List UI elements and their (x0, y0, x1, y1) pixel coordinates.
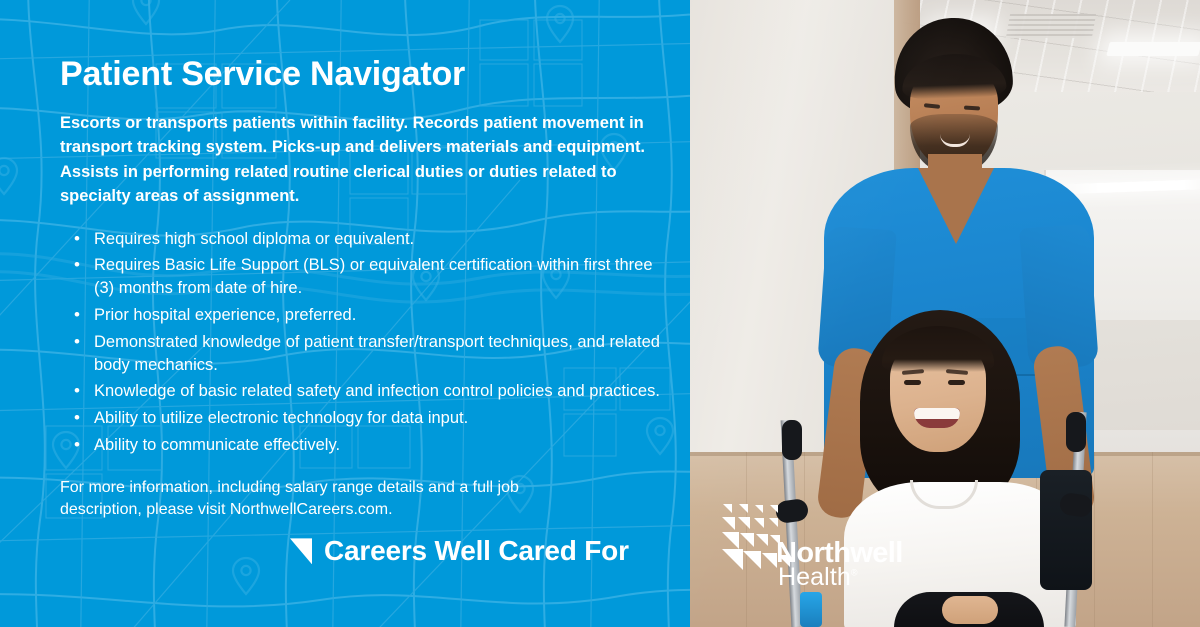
job-title: Patient Service Navigator (60, 0, 660, 93)
list-item: Requires Basic Life Support (BLS) or equ… (82, 254, 660, 300)
ad-copy: Patient Service Navigator Escorts or tra… (60, 0, 660, 627)
patient-teeth (914, 408, 960, 419)
patient-eye-right (948, 380, 965, 385)
blue-content-panel: Patient Service Navigator Escorts or tra… (0, 0, 690, 627)
northwell-triangle-icon (290, 538, 312, 564)
patient-smile (914, 408, 960, 428)
registered-mark: ® (851, 568, 858, 578)
wheelchair-grip-left (782, 420, 802, 460)
logo-sub-wordmark: Health® (778, 565, 858, 590)
tagline-lockup: Careers Well Cared For (60, 537, 660, 565)
more-information-text: For more information, including salary r… (60, 477, 580, 522)
tagline-text: Careers Well Cared For (324, 537, 629, 565)
list-item: Requires high school diploma or equivale… (82, 228, 660, 251)
patient-eye-left (904, 380, 921, 385)
wheelchair-backrest (1040, 470, 1092, 590)
wheelchair-detail (800, 592, 822, 627)
list-item: Ability to communicate effectively. (82, 434, 660, 457)
northwell-health-logo: Northwell Health® (722, 503, 892, 595)
list-item: Ability to utilize electronic technology… (82, 407, 660, 430)
ceiling-light (1106, 42, 1200, 56)
careers-ad-banner: Northwell Health® (0, 0, 1200, 627)
list-item: Prior hospital experience, preferred. (82, 304, 660, 327)
wheelchair-grip-right (1066, 412, 1086, 452)
job-summary: Escorts or transports patients within fa… (60, 111, 652, 207)
logo-sub-text: Health (778, 563, 851, 591)
patient-hands (942, 596, 998, 624)
requirements-list: Requires high school diploma or equivale… (60, 228, 660, 457)
list-item: Knowledge of basic related safety and in… (82, 380, 660, 403)
list-item: Demonstrated knowledge of patient transf… (82, 331, 660, 377)
